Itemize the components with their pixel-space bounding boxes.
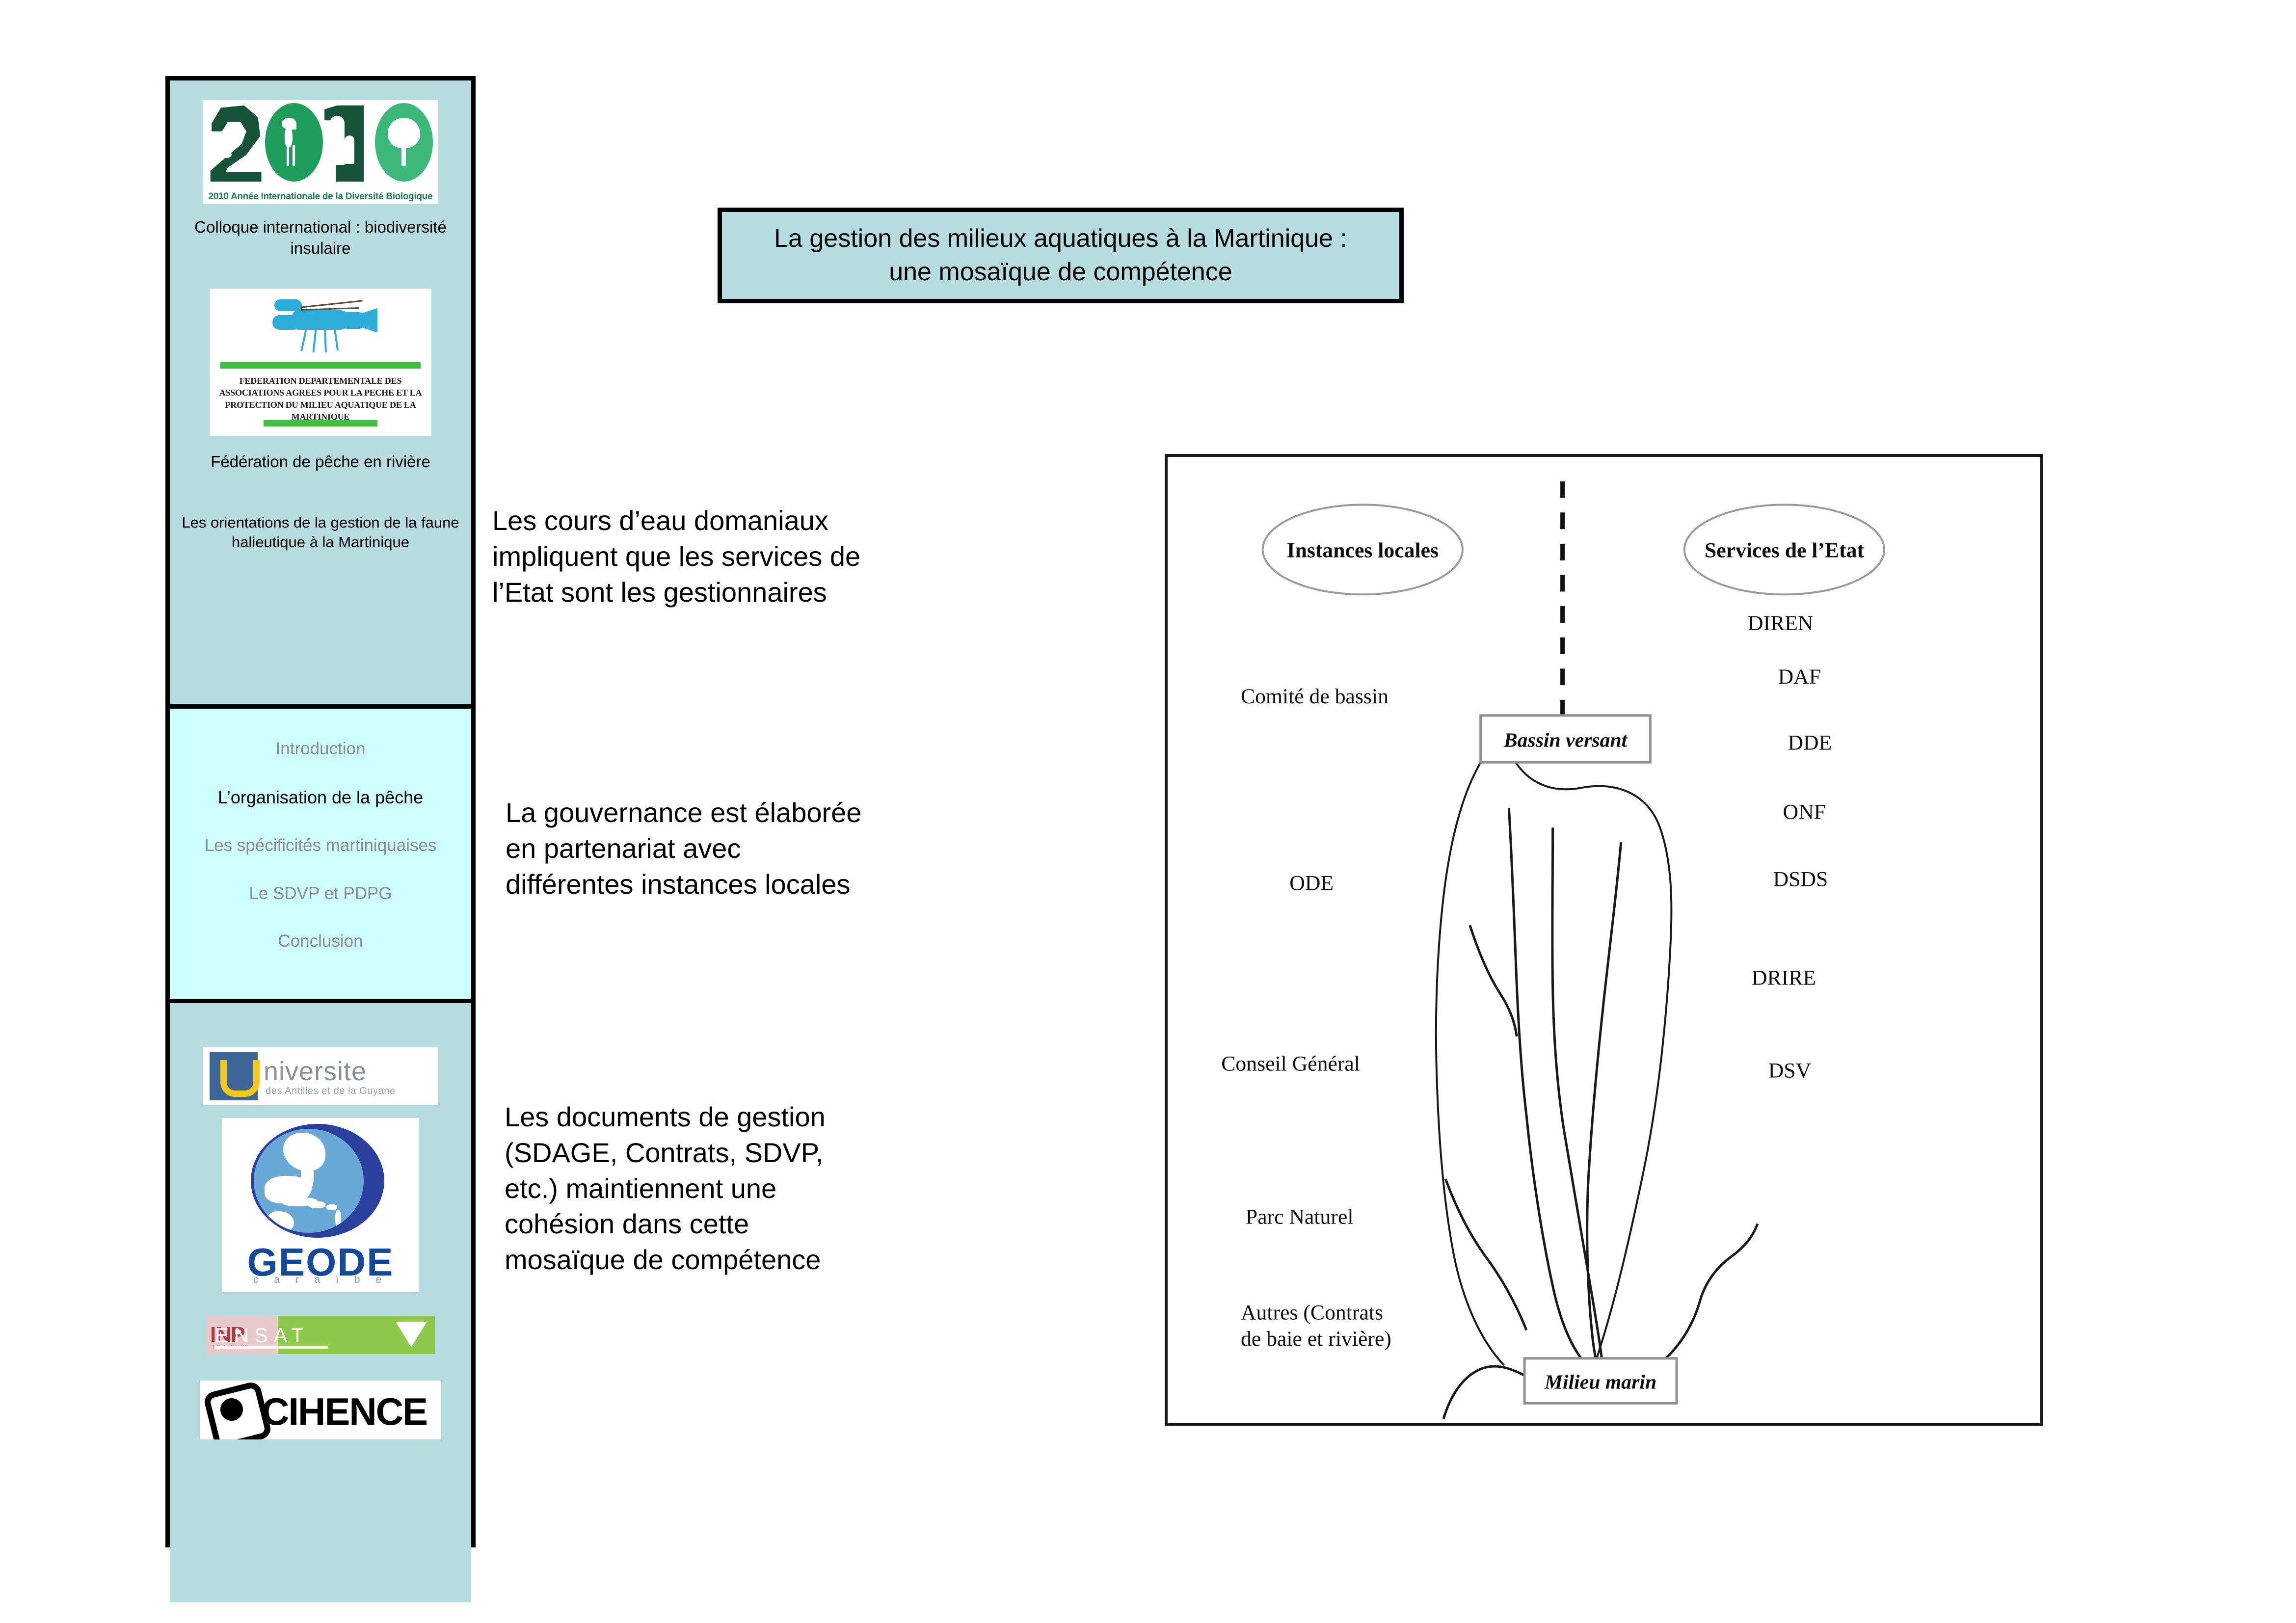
colloque-caption: Colloque international : biodiversité in…	[170, 217, 471, 259]
page-title: La gestion des milieux aquatiques à la M…	[774, 222, 1347, 289]
nav-item-introduction[interactable]: Introduction	[170, 738, 471, 760]
body-paragraph-2: La gouvernance est élaborée en partenari…	[506, 795, 1173, 902]
label-conseil-general: Conseil Général	[1221, 1052, 1360, 1075]
coastline	[1621, 1224, 1758, 1369]
bassin-versant-diagram: Instances locales Services de l’Etat Bas…	[1165, 454, 2043, 1426]
logo-universite-antilles-guyane-icon: niversite des Antilles et de la Guyane	[203, 1047, 438, 1105]
watershed-outline	[1480, 750, 1672, 1365]
logo-cihence-icon: CIHENCE	[200, 1381, 441, 1439]
geode-subtitle: c a r a ï b e	[222, 1274, 419, 1286]
label-dde: DDE	[1788, 731, 1832, 754]
body-paragraph-1: Les cours d’eau domaniaux impliquent que…	[492, 503, 1179, 610]
sidebar-panel: 2010 Année Internationale de la Diversit…	[165, 76, 476, 1547]
milieu-marin-label: Milieu marin	[1544, 1371, 1656, 1393]
uag-wordmark: niversite	[264, 1056, 367, 1087]
ensat-wordmark: ENSAT	[215, 1324, 309, 1347]
label-autres-contrats-line2: de baie et rivière)	[1241, 1327, 1391, 1351]
logo-federation-text: FEDERATION DEPARTEMENTALE DES ASSOCIATIO…	[210, 375, 431, 423]
label-autres-contrats: Autres (Contrats	[1241, 1301, 1383, 1324]
label-comite-de-bassin: Comité de bassin	[1241, 685, 1388, 708]
slide-title-banner: La gestion des milieux aquatiques à la M…	[718, 208, 1404, 303]
watershed-outline-left	[1436, 764, 1504, 1365]
nav-item-sdvp-pdpg[interactable]: Le SDVP et PDPG	[170, 883, 471, 905]
nav-list: Introduction L’organisation de la pêche …	[170, 709, 471, 952]
orientations-caption: Les orientations de la gestion de la fau…	[170, 513, 471, 553]
uag-subtitle: des Antilles et de la Guyane	[266, 1086, 396, 1097]
nav-item-organisation-peche[interactable]: L’organisation de la pêche	[170, 786, 471, 808]
body-paragraph-3: Les documents de gestion (SDAGE, Contrat…	[505, 1099, 1123, 1278]
logo-2010-biodiversity-icon: 2010 Année Internationale de la Diversit…	[203, 100, 438, 204]
federation-caption: Fédération de pêche en rivière	[170, 452, 471, 473]
label-parc-naturel: Parc Naturel	[1246, 1205, 1354, 1228]
river-branch-1	[1470, 925, 1517, 1037]
label-dsds: DSDS	[1773, 868, 1828, 891]
label-dsv: DSV	[1768, 1059, 1812, 1082]
sidebar-top-band: 2010 Année Internationale de la Diversit…	[170, 100, 471, 709]
instances-locales-label: Instances locales	[1287, 539, 1439, 562]
label-daf: DAF	[1778, 665, 1821, 689]
river-branch-4	[1445, 1179, 1526, 1330]
cihence-wordmark: CIHENCE	[262, 1389, 427, 1434]
diagram-canvas: Instances locales Services de l’Etat Bas…	[1168, 457, 2040, 1423]
sidebar-nav-band: Introduction L’organisation de la pêche …	[170, 709, 471, 1003]
nav-item-conclusion[interactable]: Conclusion	[170, 931, 471, 952]
logo-2010-caption: 2010 Année Internationale de la Diversit…	[203, 191, 438, 202]
river-main	[1509, 808, 1587, 1365]
bassin-versant-label: Bassin versant	[1503, 729, 1628, 751]
label-drire: DRIRE	[1752, 966, 1816, 989]
label-diren: DIREN	[1748, 612, 1813, 635]
logo-inp-ensat-icon: INP TOULOUSE ENSAT	[206, 1316, 435, 1354]
logo-federation-peche-icon: FEDERATION DEPARTEMENTALE DES ASSOCIATIO…	[210, 289, 431, 436]
logo-geode-caraibe-icon: GEODE c a r a ï b e	[222, 1118, 419, 1292]
label-onf: ONF	[1783, 800, 1826, 824]
services-etat-label: Services de l’Etat	[1705, 539, 1865, 562]
sidebar-bottom-band: niversite des Antilles et de la Guyane G…	[170, 1047, 471, 1602]
label-ode: ODE	[1289, 872, 1334, 895]
nav-item-specificites-martiniquaises[interactable]: Les spécificités martiniquaises	[170, 835, 471, 856]
